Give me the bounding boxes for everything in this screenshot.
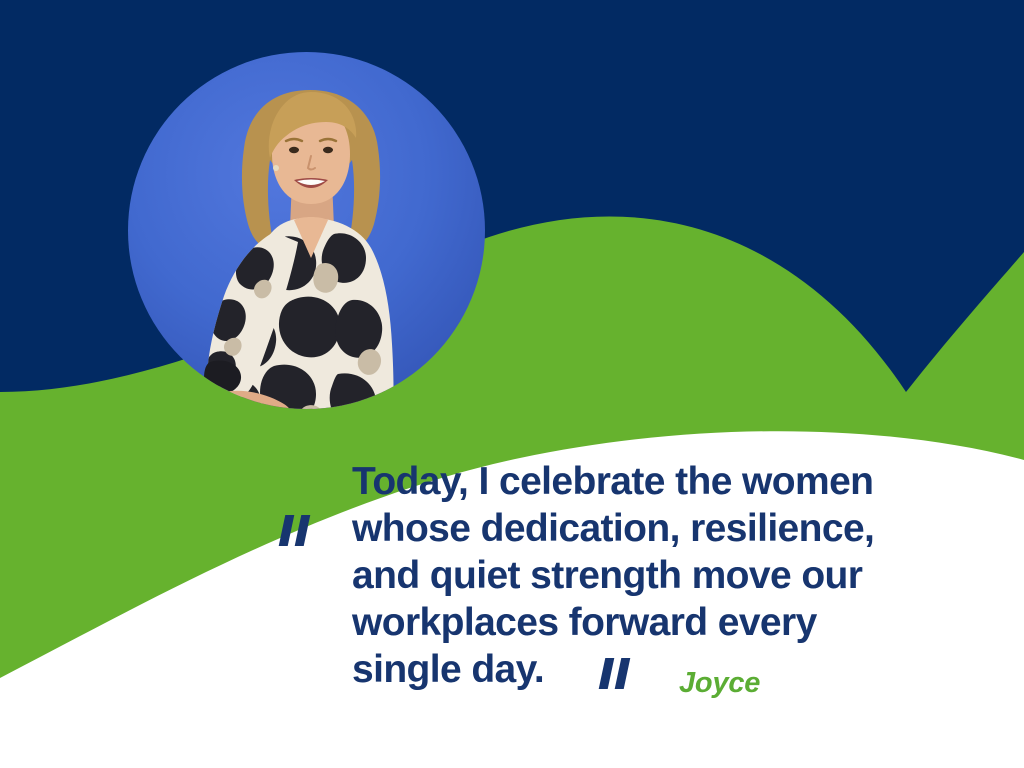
earring	[273, 165, 279, 171]
quote-line: whose dedication, resilience,	[352, 505, 912, 552]
close-quote-mark-icon	[602, 658, 627, 694]
portrait-figure-illustration	[128, 52, 485, 409]
quote-block: Today, I celebrate the women whose dedic…	[352, 458, 912, 693]
quote-graphic-canvas: Today, I celebrate the women whose dedic…	[0, 0, 1024, 768]
portrait-circle-backdrop	[128, 52, 485, 409]
portrait	[128, 52, 485, 409]
quote-line: single day.	[352, 646, 912, 693]
quote-line: Today, I celebrate the women	[352, 458, 912, 505]
quote-line: and quiet strength move our	[352, 552, 912, 599]
eye-left	[289, 147, 299, 153]
quote-attribution: Joyce	[679, 667, 760, 700]
open-quote-mark-icon	[282, 515, 307, 551]
quote-line: workplaces forward every	[352, 599, 912, 646]
eye-right	[323, 147, 333, 153]
